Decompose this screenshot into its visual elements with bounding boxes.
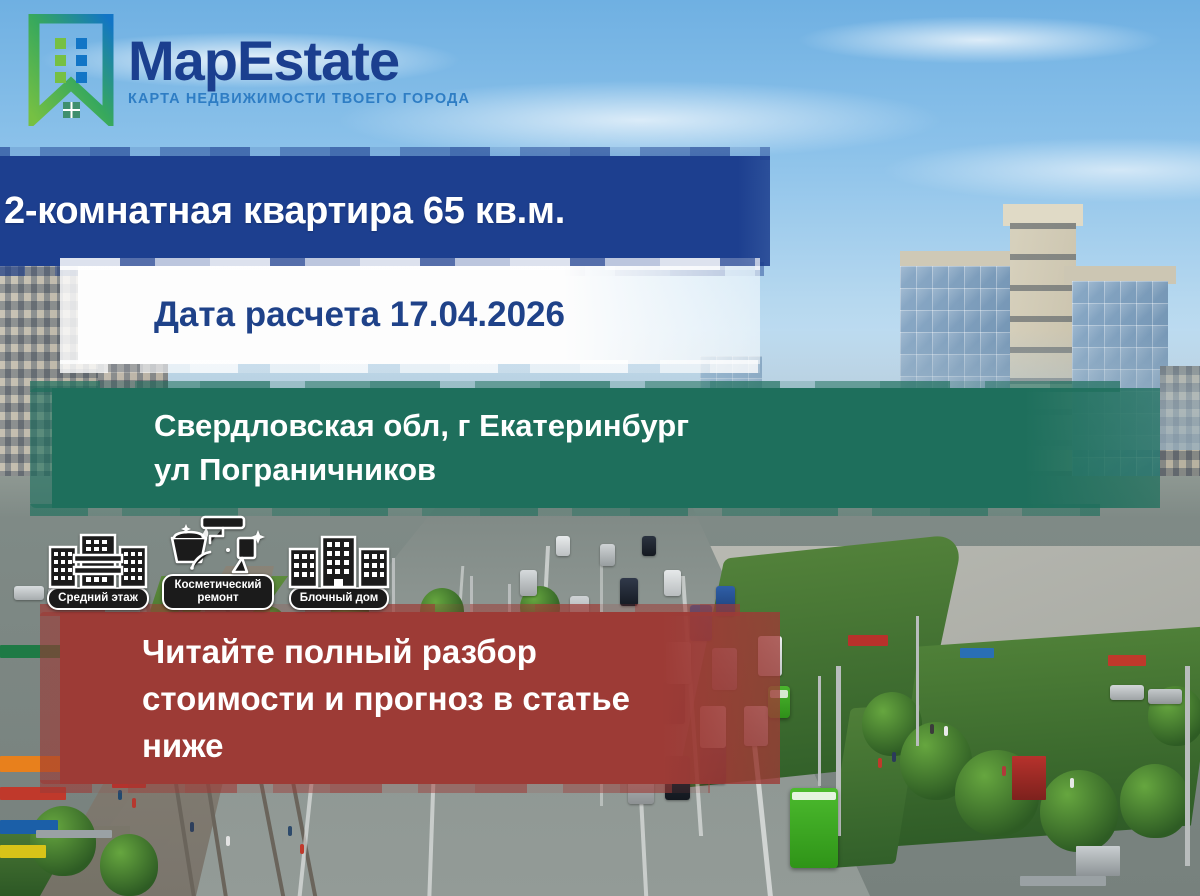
bus-shelter: [36, 830, 112, 838]
calculation-date-text: Дата расчета 17.04.2026: [94, 295, 565, 335]
block-house-icon: [286, 529, 392, 591]
brand-text: MapEstate КАРТА НЕДВИЖИМОСТИ ТВОЕГО ГОРО…: [128, 33, 470, 108]
car-parked: [1110, 685, 1144, 700]
address-line-1: Свердловская обл, г Екатеринбург: [154, 408, 689, 443]
car: [620, 578, 638, 606]
address-banner: Свердловская обл, г Екатеринбург ул Погр…: [30, 388, 1160, 508]
pedestrian: [300, 844, 304, 854]
shop-sign: [0, 845, 46, 858]
tree: [1120, 764, 1190, 838]
pedestrian: [226, 836, 230, 846]
cta-line-3: ниже: [142, 727, 224, 764]
address-line-2: ул Пограничников: [154, 452, 436, 487]
sticker-blochnyj-dom: Блочный дом: [286, 529, 392, 610]
tree: [30, 806, 96, 876]
cta-banner: Читайте полный разбор стоимости и прогно…: [40, 612, 780, 784]
pedestrian: [132, 798, 136, 808]
apartment-building-icon: [46, 529, 150, 591]
bus-shelter: [1020, 876, 1106, 886]
brand-tagline: КАРТА НЕДВИЖИМОСТИ ТВОЕГО ГОРОДА: [128, 91, 470, 107]
traffic-light-pole: [818, 676, 821, 786]
car-parked: [1148, 689, 1182, 704]
pedestrian: [1002, 766, 1006, 776]
pedestrian: [288, 826, 292, 836]
bookmark-building-icon: [28, 14, 114, 126]
shop-sign: [1108, 655, 1146, 666]
car: [556, 536, 570, 556]
lamp-post: [1185, 666, 1190, 866]
car: [520, 570, 537, 596]
pedestrian: [930, 724, 934, 734]
tree: [1040, 770, 1118, 852]
calculation-date-banner: Дата расчета 17.04.2026: [60, 266, 760, 364]
billboard: [1076, 846, 1120, 876]
cta-line-2: стоимости и прогноз в статье: [142, 680, 630, 717]
cta-line-1: Читайте полный разбор: [142, 633, 537, 670]
brand-logo[interactable]: MapEstate КАРТА НЕДВИЖИМОСТИ ТВОЕГО ГОРО…: [28, 14, 470, 126]
car: [664, 570, 681, 596]
pedestrian: [190, 822, 194, 832]
shop-sign: [848, 635, 888, 646]
property-title-text: 2-комнатная квартира 65 кв.м.: [4, 190, 565, 233]
city-bus: [790, 788, 838, 868]
car-parked: [14, 586, 44, 600]
car: [600, 544, 615, 566]
shop-sign: [960, 648, 994, 658]
brand-wordmark: MapEstate: [128, 35, 470, 87]
shop-sign: [1012, 756, 1046, 800]
paint-tools-icon: [162, 512, 274, 578]
feature-stickers: Средний этаж Кос: [46, 512, 392, 610]
pedestrian: [892, 752, 896, 762]
sticker-kosmeticheskij-remont: Косметический ремонт: [162, 512, 274, 610]
lamp-post: [916, 616, 919, 746]
property-title-banner: 2-комнатная квартира 65 кв.м.: [0, 156, 770, 266]
sticker-label: Косметический ремонт: [162, 574, 274, 610]
pedestrian: [878, 758, 882, 768]
sticker-srednij-etazh: Средний этаж: [46, 529, 150, 610]
address-text: Свердловская обл, г Екатеринбург ул Погр…: [64, 404, 689, 492]
pedestrian: [1070, 778, 1074, 788]
tree: [100, 834, 158, 896]
car: [642, 536, 656, 556]
pedestrian: [944, 726, 948, 736]
cta-text: Читайте полный разбор стоимости и прогно…: [74, 628, 630, 770]
